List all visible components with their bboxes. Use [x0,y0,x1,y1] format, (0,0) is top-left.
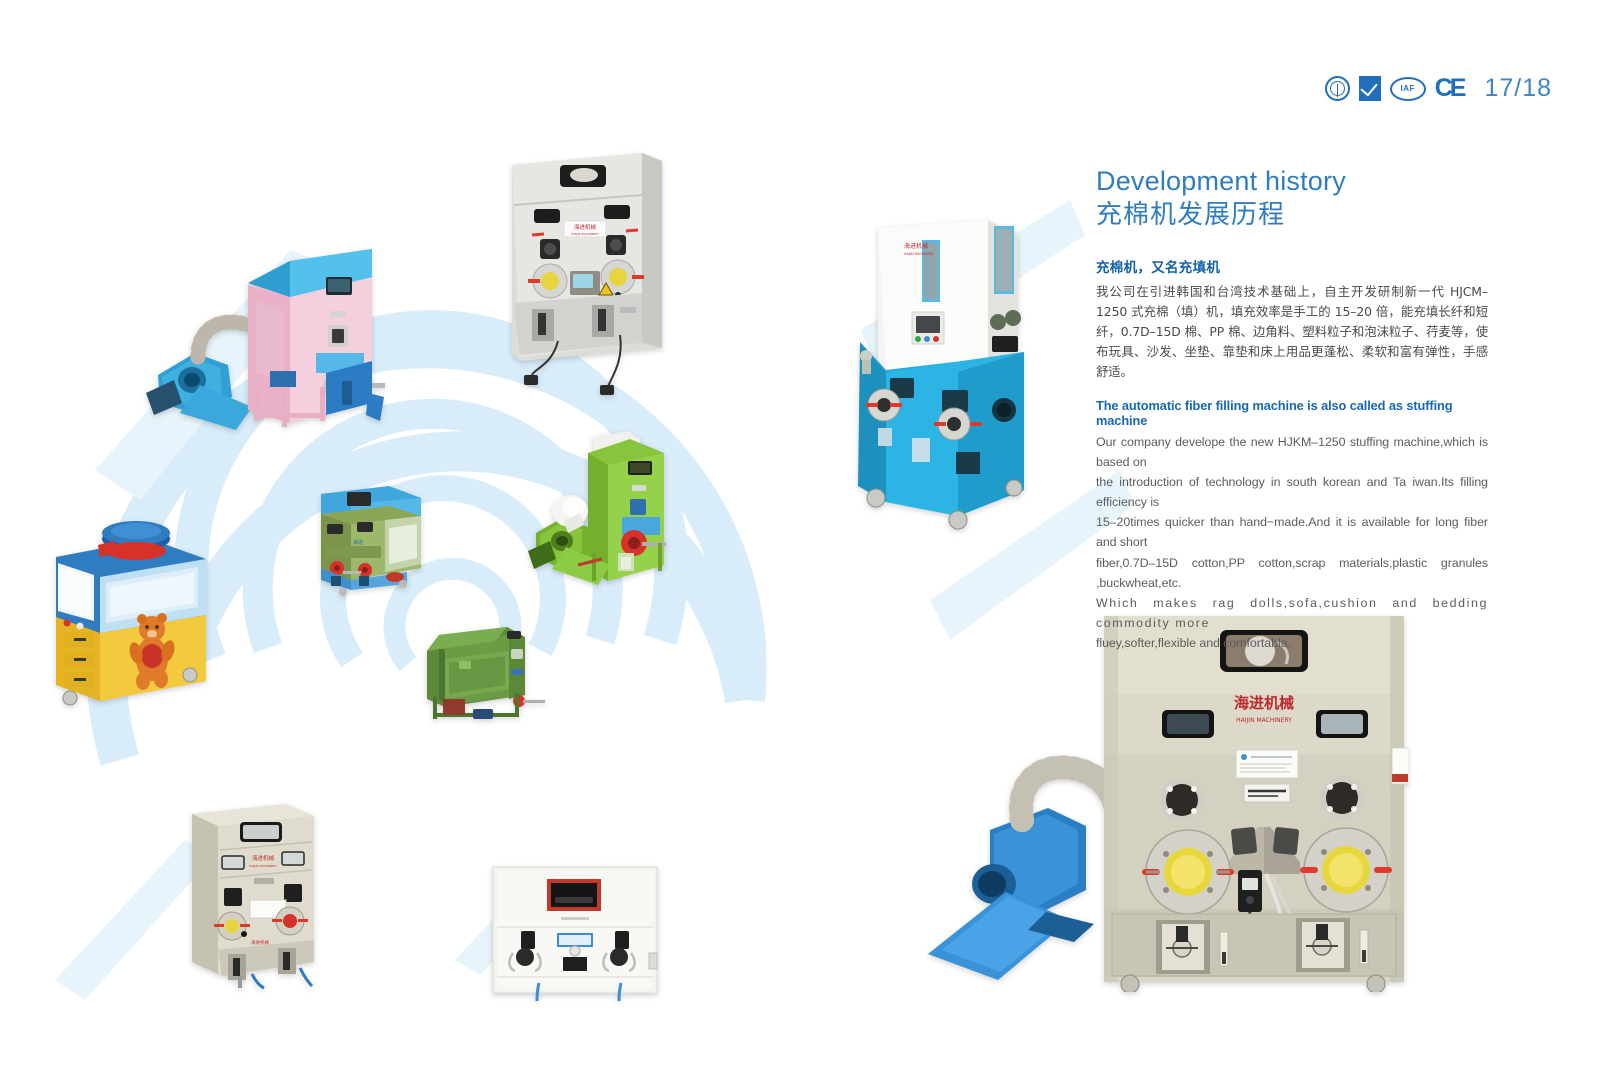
white-machine-illustration [485,857,665,1002]
svg-text:海进机械: 海进机械 [904,242,928,250]
body-paragraph-chinese: 我公司在引进韩国和台湾技术基础上，自主开发研制新一代 HJCM–1250 式充棉… [1096,282,1488,382]
ce-mark-icon: CE [1435,76,1464,101]
svg-text:海进机械: 海进机械 [1234,694,1294,712]
body-en-line: the introduction of technology in south … [1096,472,1488,512]
page-title-chinese: 充棉机发展历程 [1096,199,1488,232]
svg-text:海进机械: 海进机械 [252,854,275,862]
pink-blue-machine-illustration [140,225,390,440]
photo-teddy-bear-vending-machine [40,495,220,710]
photo-blue-white-hjcm1250-machine: 海进机械 HAIJIN MACHINERY [838,200,1038,530]
green-blue-opener-illustration: 海进 [303,472,433,597]
photo-white-dual-station-machine [485,857,665,1002]
photo-beige-dual-station-machine: 海进机械 HAIJIN MACHINERY 海进机械 [178,786,328,991]
body-en-line: 15–20times quicker than hand−made.And it… [1096,512,1488,552]
body-en-line: fluey,softer,flexible and comfortabla. [1096,633,1488,653]
green-machine-illustration [522,425,677,600]
photo-grey-dual-station-machine: 海进机械 HAIJIN MACHINERY [492,143,672,398]
subtitle-chinese: 充棉机，又名充填机 [1096,256,1488,276]
photo-green-stuffing-machine-blower [522,425,677,600]
certification-header: IAF CE 17/18 [1325,74,1552,103]
svg-text:HAIJIN MACHINERY: HAIJIN MACHINERY [249,864,277,868]
photo-green-carding-machine [415,613,550,728]
body-en-line: fiber,0.7D–15D cotton,PP cotton,scrap ma… [1096,553,1488,593]
body-paragraph-english: Our company develope the new HJKM–1250 s… [1096,432,1488,653]
iso-certification-icon [1325,76,1350,101]
article-text-column: Development history 充棉机发展历程 充棉机，又名充填机 我公… [1096,166,1488,653]
page-title-english: Development history [1096,166,1488,197]
iaf-certification-icon: IAF [1390,77,1426,101]
svg-text:HAIJIN MACHINERY: HAIJIN MACHINERY [904,252,934,256]
checkmark-certification-icon [1359,76,1381,101]
svg-text:海进: 海进 [353,539,363,546]
page-number: 17/18 [1484,74,1552,103]
body-en-line: Which makes rag dolls,sofa,cushion and b… [1096,593,1488,633]
svg-text:HAIJIN MACHINERY: HAIJIN MACHINERY [1236,717,1292,724]
subtitle-english: The automatic fiber filling machine is a… [1096,398,1488,428]
photo-green-blue-opener-machine: 海进 [303,472,433,597]
photo-pink-blue-stuffing-machine [140,225,390,440]
svg-text:HAIJIN MACHINERY: HAIJIN MACHINERY [571,232,599,236]
body-en-line: Our company develope the new HJKM–1250 s… [1096,432,1488,472]
green-carding-illustration [415,613,550,728]
grey-machine-illustration: 海进机械 HAIJIN MACHINERY [492,143,672,398]
svg-text:海进机械: 海进机械 [574,223,597,231]
teddy-machine-illustration [40,495,220,710]
blue-white-machine-illustration: 海进机械 HAIJIN MACHINERY [838,200,1038,530]
beige-machine-illustration: 海进机械 HAIJIN MACHINERY 海进机械 [178,786,328,991]
